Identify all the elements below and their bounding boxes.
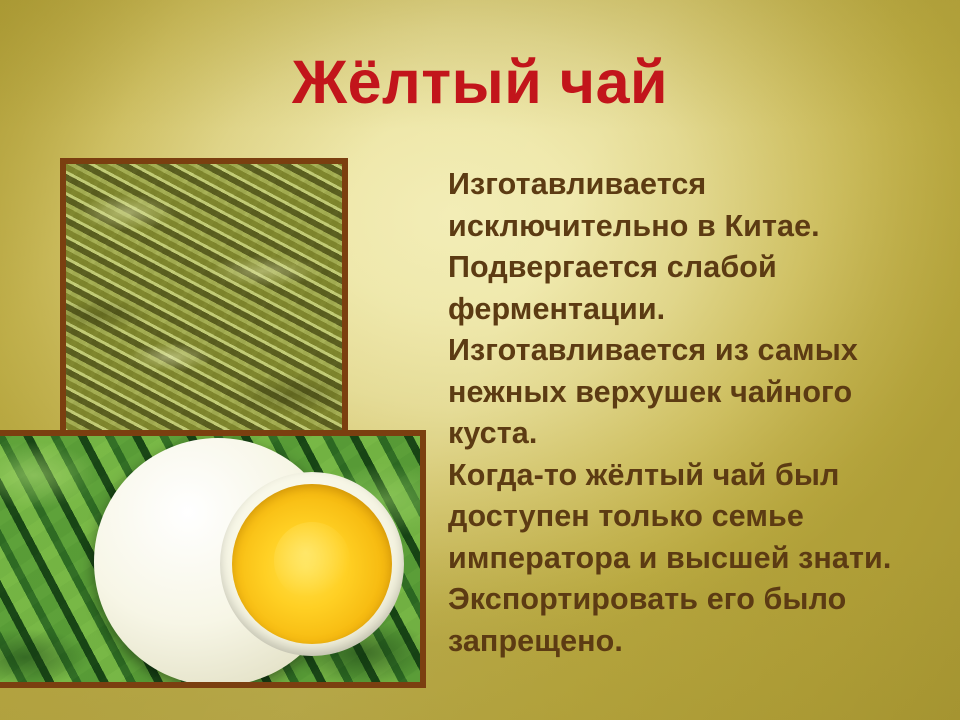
dry-tea-texture	[66, 164, 342, 432]
page-title: Жёлтый чай	[0, 52, 960, 113]
body-line: исключительно в Китае.	[448, 206, 948, 248]
body-text-block: Изготавливается исключительно в Китае. П…	[448, 164, 948, 662]
body-line: нежных верхушек чайного	[448, 372, 948, 414]
body-line: ферментации.	[448, 289, 948, 331]
yellow-tea-liquid	[232, 484, 392, 644]
body-line: Изготавливается из самых	[448, 330, 948, 372]
body-line: доступен только семье	[448, 496, 948, 538]
body-line: запрещено.	[448, 621, 948, 663]
image-cup-of-yellow-tea	[0, 430, 426, 688]
body-line: Когда-то жёлтый чай был	[448, 455, 948, 497]
saucer	[94, 438, 342, 686]
body-line: куста.	[448, 413, 948, 455]
body-line: Экспортировать его было	[448, 579, 948, 621]
body-line: Изготавливается	[448, 164, 948, 206]
slide-yellow-tea: Жёлтый чай Изготавливается исключительно…	[0, 0, 960, 720]
teacup	[220, 472, 404, 656]
image-dry-yellow-tea-leaves	[60, 158, 348, 438]
body-line: Подвергается слабой	[448, 247, 948, 289]
body-line: императора и высшей знати.	[448, 538, 948, 580]
